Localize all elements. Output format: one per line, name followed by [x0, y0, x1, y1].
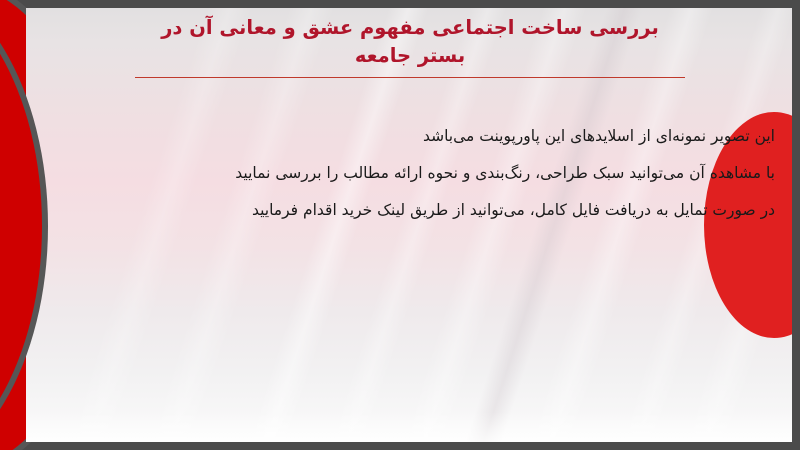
presentation-slide: بررسی ساخت اجتماعی مفهوم عشق و معانی آن …	[0, 0, 800, 450]
slide-body-line-1: این تصویر نمونه‌ای از اسلایدهای این پاور…	[45, 118, 775, 155]
slide-body-line-3: در صورت تمایل به دریافت فایل کامل، می‌تو…	[45, 192, 775, 229]
slide-title: بررسی ساخت اجتماعی مفهوم عشق و معانی آن …	[60, 14, 760, 78]
slide-body-text: این تصویر نمونه‌ای از اسلایدهای این پاور…	[45, 118, 775, 229]
slide-body-line-2: با مشاهده آن می‌توانید سبک طراحی، رنگ‌بن…	[45, 155, 775, 192]
slide-title-line-1: بررسی ساخت اجتماعی مفهوم عشق و معانی آن …	[60, 14, 760, 42]
slide-title-line-2: بستر جامعه	[60, 42, 760, 70]
title-underline-rule	[135, 77, 685, 78]
